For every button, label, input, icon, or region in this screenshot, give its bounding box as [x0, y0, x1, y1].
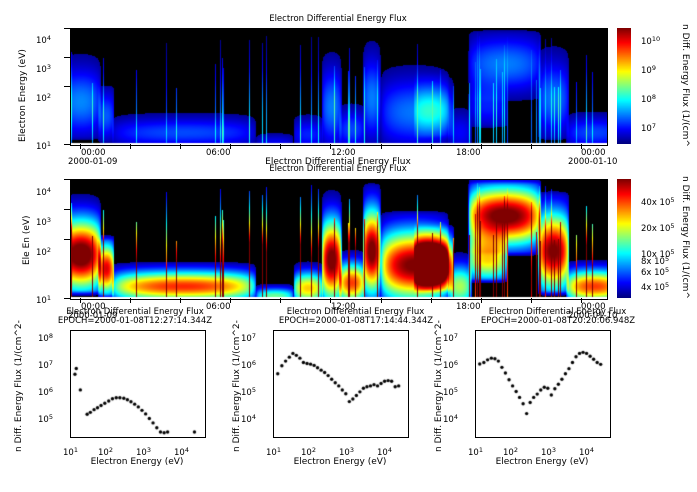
tick-mark: [280, 298, 281, 303]
spec3-plot[interactable]: [475, 330, 611, 438]
panel2-ylabel-wrap: Ele En (eV): [22, 265, 72, 275]
spec2-ytick-0: 107: [241, 326, 256, 345]
tick-mark: [381, 298, 382, 303]
spec3-epoch: EPOCH=2000-01-08T20:20:06.948Z: [452, 316, 664, 326]
tick-mark: [64, 86, 70, 87]
tick-mark: [280, 144, 281, 149]
spec2-ytick-1: 106: [241, 353, 256, 372]
tick-mark: [64, 144, 70, 145]
spec3-ytick-1: 106: [443, 353, 458, 372]
spec1-ylabel: n Diff. Energy Flux (1/(cm^2-: [14, 320, 24, 452]
panel1-title: Electron Differential Energy Flux: [70, 14, 606, 24]
tick-mark: [381, 144, 382, 149]
spec1-ytick-3: 105: [38, 407, 53, 426]
panel2-cbar-label: n Diff. Energy Flux (1/(cm^: [680, 176, 690, 299]
panel1-spectrogram-canvas: [71, 29, 607, 145]
spec2-ytick-2: 105: [241, 380, 256, 399]
spec1-plot[interactable]: [70, 330, 206, 438]
spec1-xlabel: Electron Energy (eV): [70, 457, 204, 467]
panel1-cbar-tick-0: 1010: [641, 29, 660, 48]
tick-mark: [64, 28, 70, 29]
panel1-xlabel: Electron Differential Energy Flux: [70, 157, 606, 167]
panel2-colorbar[interactable]: [617, 179, 631, 298]
spec3-scatter-canvas: [476, 331, 610, 437]
tick-mark: [481, 298, 482, 303]
panel2-spectrogram[interactable]: [70, 179, 608, 300]
tick-mark: [230, 298, 231, 303]
spec3-ytick-3: 104: [443, 407, 458, 426]
panel1-ytick-3: 101: [36, 134, 51, 153]
panel1-cbar-label-wrap: n Diff. Energy Flux (1/(cm^: [690, 24, 697, 34]
panel1-ytick-0: 104: [36, 28, 51, 47]
tick-mark: [230, 144, 231, 149]
spec3-ytick-0: 107: [443, 326, 458, 345]
panel2-ytick-0: 104: [36, 180, 51, 199]
spec1-ytick-1: 107: [38, 353, 53, 372]
tick-mark: [64, 179, 70, 180]
spec1-epoch: EPOCH=2000-01-08T12:27:14.344Z: [30, 316, 240, 326]
tick-mark: [330, 298, 331, 303]
panel1-colorbar[interactable]: [617, 28, 631, 144]
tick-mark: [130, 298, 131, 303]
panel1-cbar-label: n Diff. Energy Flux (1/(cm^: [680, 24, 690, 147]
panel1-ytick-1: 103: [36, 57, 51, 76]
panel1-cbar-tick-3: 107: [641, 116, 656, 135]
panel2-ytick-2: 102: [36, 240, 51, 259]
tick-mark: [481, 144, 482, 149]
panel2-ytick-3: 101: [36, 288, 51, 307]
panel2-cbar-tick-5: 4x 105: [641, 275, 669, 294]
tick-mark: [531, 298, 532, 303]
spec3-ytick-2: 105: [443, 380, 458, 399]
spec1-ytick-0: 108: [38, 326, 53, 345]
panel1-ylabel: Electron Energy (eV): [18, 49, 28, 142]
tick-mark: [64, 239, 70, 240]
tick-mark: [80, 298, 81, 303]
tick-mark: [130, 144, 131, 149]
panel1-spectrogram[interactable]: [70, 28, 608, 146]
spec2-epoch: EPOCH=2000-01-08T17:14:44.344Z: [250, 316, 462, 326]
tick-mark: [581, 298, 582, 303]
tick-mark: [80, 144, 81, 149]
panel2-ylabel: Ele En (eV): [22, 215, 32, 265]
panel1-cbar-tick-1: 109: [641, 58, 656, 77]
tick-mark: [64, 209, 70, 210]
tick-mark: [330, 144, 331, 149]
spec3-xlabel: Electron Energy (eV): [475, 457, 609, 467]
tick-mark: [581, 144, 582, 149]
tick-mark: [180, 144, 181, 149]
tick-mark: [431, 144, 432, 149]
panel1-cbar-tick-2: 108: [641, 87, 656, 106]
tick-mark: [64, 298, 70, 299]
panel1-ytick-2: 102: [36, 86, 51, 105]
tick-mark: [431, 298, 432, 303]
spec2-xlabel: Electron Energy (eV): [273, 457, 407, 467]
panel2-cbar-label-wrap: n Diff. Energy Flux (1/(cm^: [690, 176, 697, 186]
spec2-plot[interactable]: [273, 330, 409, 438]
spec1-ytick-2: 106: [38, 380, 53, 399]
tick-mark: [531, 144, 532, 149]
spec2-ytick-3: 104: [241, 407, 256, 426]
panel2-cbar-tick-0: 40x 105: [641, 190, 675, 209]
panel2-ytick-1: 103: [36, 210, 51, 229]
tick-mark: [64, 57, 70, 58]
tick-mark: [180, 298, 181, 303]
spec2-scatter-canvas: [274, 331, 408, 437]
spec1-scatter-canvas: [71, 331, 205, 437]
panel2-cbar-tick-1: 20x 105: [641, 216, 675, 235]
panel2-spectrogram-canvas: [71, 180, 607, 299]
